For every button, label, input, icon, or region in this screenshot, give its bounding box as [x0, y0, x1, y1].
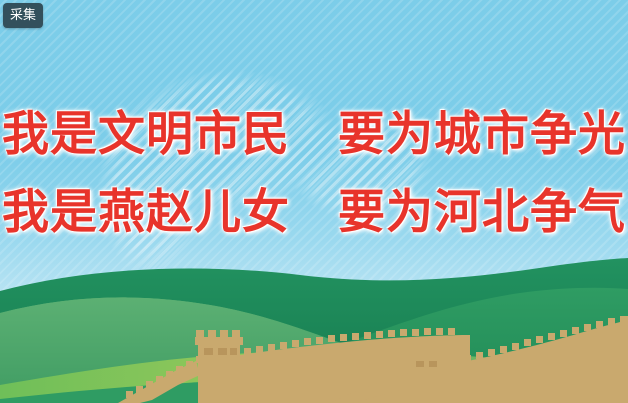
- great-wall-left-tower-windows: [204, 348, 237, 355]
- slogan-line-2: 我是燕赵儿女 要为河北争气: [0, 174, 628, 252]
- slogan-line-1: 我是文明市民 要为城市争光: [0, 96, 628, 174]
- capture-button[interactable]: 采集: [3, 3, 43, 28]
- banner-screenshot: 我是文明市民 要为城市争光 我是燕赵儿女 要为河北争气 采集: [0, 0, 628, 403]
- slogan-block: 我是文明市民 要为城市争光 我是燕赵儿女 要为河北争气: [0, 96, 628, 252]
- landscape-illustration: [0, 253, 628, 403]
